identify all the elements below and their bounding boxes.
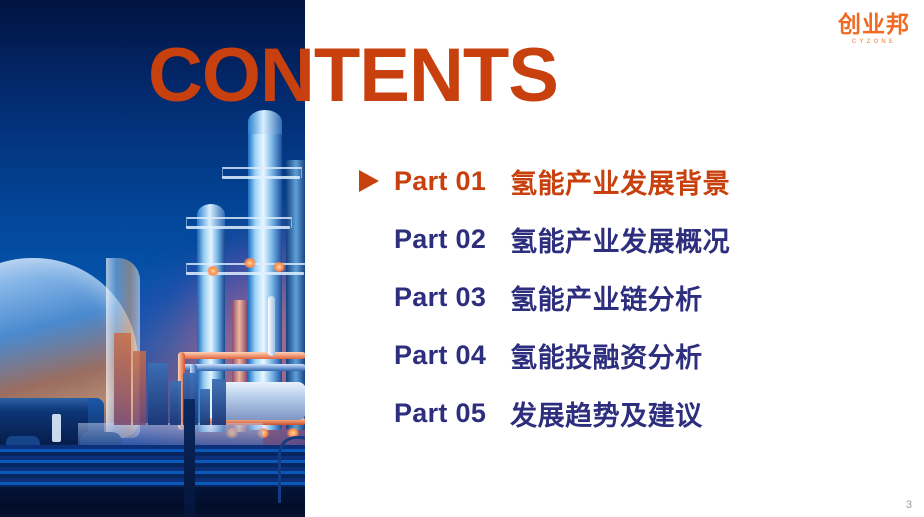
foreground-post — [184, 399, 195, 517]
skyline-building — [133, 351, 146, 425]
contents-item-part-number: Part 01 — [394, 166, 486, 197]
plant-railing-mid — [186, 217, 292, 228]
skyline-building — [148, 363, 168, 425]
skyline-building — [212, 379, 226, 425]
brand-logo-subtitle: CYZONE — [838, 39, 910, 45]
contents-item-label: 发展趋势及建议 — [510, 394, 703, 433]
contents-item-part-number: Part 04 — [394, 340, 486, 371]
page-number: 3 — [906, 499, 912, 511]
play-triangle-icon — [358, 169, 394, 193]
slide-root: CONTENTS 创业邦 CYZONE Part 01 氢能产业发展背景 Par… — [0, 0, 924, 517]
contents-item-part-number: Part 03 — [394, 282, 486, 313]
plant-glow-lamp — [206, 266, 220, 276]
page-title: CONTENTS — [148, 38, 558, 114]
storage-post — [52, 414, 61, 442]
skyline-building — [170, 381, 181, 425]
contents-item-part-01[interactable]: Part 01 氢能产业发展背景 — [358, 152, 898, 210]
contents-item-label: 氢能产业发展背景 — [510, 162, 730, 201]
brand-logo-mark: 创业邦 — [838, 14, 910, 37]
plant-railing-upper — [222, 167, 302, 178]
contents-item-label: 氢能投融资分析 — [510, 336, 703, 375]
contents-item-label: 氢能产业链分析 — [510, 278, 703, 317]
contents-item-part-05[interactable]: Part 05 发展趋势及建议 — [358, 384, 898, 442]
plant-glow-lamp — [272, 262, 286, 272]
contents-item-part-04[interactable]: Part 04 氢能投融资分析 — [358, 326, 898, 384]
ground-foreground-band — [0, 487, 305, 517]
contents-item-label: 氢能产业发展概况 — [510, 220, 730, 259]
contents-item-part-02[interactable]: Part 02 氢能产业发展概况 — [358, 210, 898, 268]
foreground-rail-arc — [278, 436, 305, 503]
plant-pipe-vertical — [268, 296, 275, 356]
contents-item-part-number: Part 02 — [394, 224, 486, 255]
skyline-building — [200, 389, 210, 425]
contents-item-part-number: Part 05 — [394, 398, 486, 429]
plant-glow-lamp — [243, 258, 257, 268]
contents-item-part-03[interactable]: Part 03 氢能产业链分析 — [358, 268, 898, 326]
water-reflection — [78, 423, 263, 445]
contents-list: Part 01 氢能产业发展背景 Part 02 氢能产业发展概况 Part 0… — [358, 152, 898, 442]
brand-logo: 创业邦 CYZONE — [838, 14, 910, 45]
skyline-building — [114, 333, 131, 425]
